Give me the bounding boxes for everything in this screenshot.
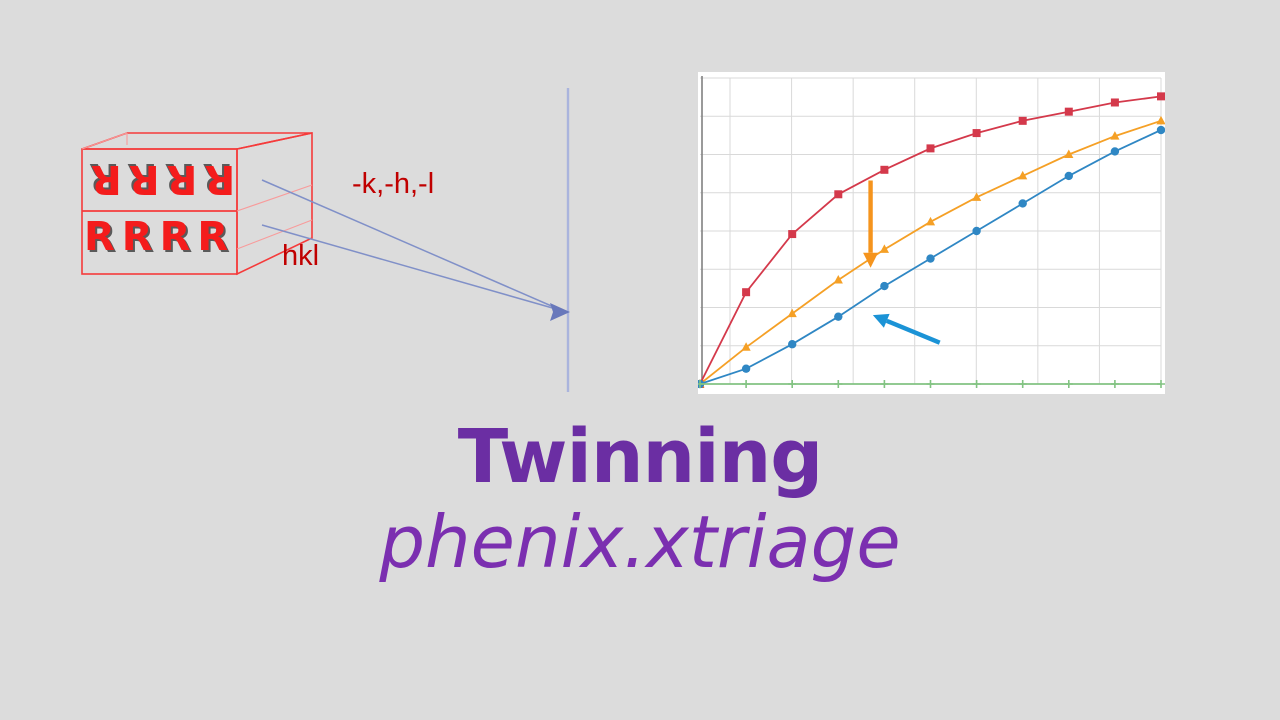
cumulative-intensity-chart (698, 72, 1165, 394)
data-point-circle (1111, 147, 1119, 155)
chart-series (698, 92, 1165, 388)
lattice-letters-bottom-layer: RRRR (84, 217, 235, 257)
data-point-circle (742, 365, 750, 373)
blue-left-arrow-shaft (887, 321, 940, 343)
data-point-triangle (788, 309, 797, 318)
data-point-circle (972, 227, 980, 235)
chart-svg (698, 72, 1165, 394)
data-point-plus (927, 380, 935, 388)
rays-svg (250, 80, 590, 400)
data-point-plus (788, 380, 796, 388)
data-point-square (973, 129, 981, 137)
data-point-square (788, 230, 796, 238)
data-point-triangle (1156, 116, 1165, 125)
data-point-square (880, 166, 888, 174)
data-point-circle (926, 254, 934, 262)
data-point-triangle (742, 342, 751, 351)
data-point-plus (880, 380, 888, 388)
ray-line-lower (262, 225, 563, 311)
data-point-plus (1065, 380, 1073, 388)
ray-line-upper (262, 180, 563, 311)
data-point-square (1111, 98, 1119, 106)
data-point-circle (1019, 199, 1027, 207)
data-point-plus (1111, 380, 1119, 388)
data-point-plus (1019, 380, 1027, 388)
data-point-triangle (880, 244, 889, 253)
data-point-square (742, 288, 750, 296)
data-point-circle (788, 340, 796, 348)
diffraction-rays (250, 80, 590, 400)
data-point-triangle (834, 275, 843, 284)
data-point-plus (1157, 380, 1165, 388)
data-point-square (834, 190, 842, 198)
page-title: Twinning (0, 420, 1280, 495)
title-block: Twinning phenix.xtriage (0, 420, 1280, 583)
slide-root: RRRR RRRR -k,-h,-l hkl Twinning phenix.x… (0, 0, 1280, 720)
data-point-plus (742, 380, 750, 388)
page-subtitle: phenix.xtriage (0, 503, 1280, 582)
data-point-circle (834, 312, 842, 320)
data-point-square (1157, 92, 1165, 100)
lattice-letters-top-layer: RRRR (84, 159, 235, 199)
data-point-plus (834, 380, 842, 388)
series-line (700, 121, 1161, 384)
data-point-circle (1157, 126, 1165, 134)
data-point-plus (973, 380, 981, 388)
data-point-circle (1065, 172, 1073, 180)
data-point-circle (880, 282, 888, 290)
data-point-square (1019, 117, 1027, 125)
orange-down-arrow-head (863, 253, 878, 268)
data-point-square (1065, 108, 1073, 116)
data-point-square (927, 144, 935, 152)
box-inner-edge-2 (82, 133, 127, 149)
